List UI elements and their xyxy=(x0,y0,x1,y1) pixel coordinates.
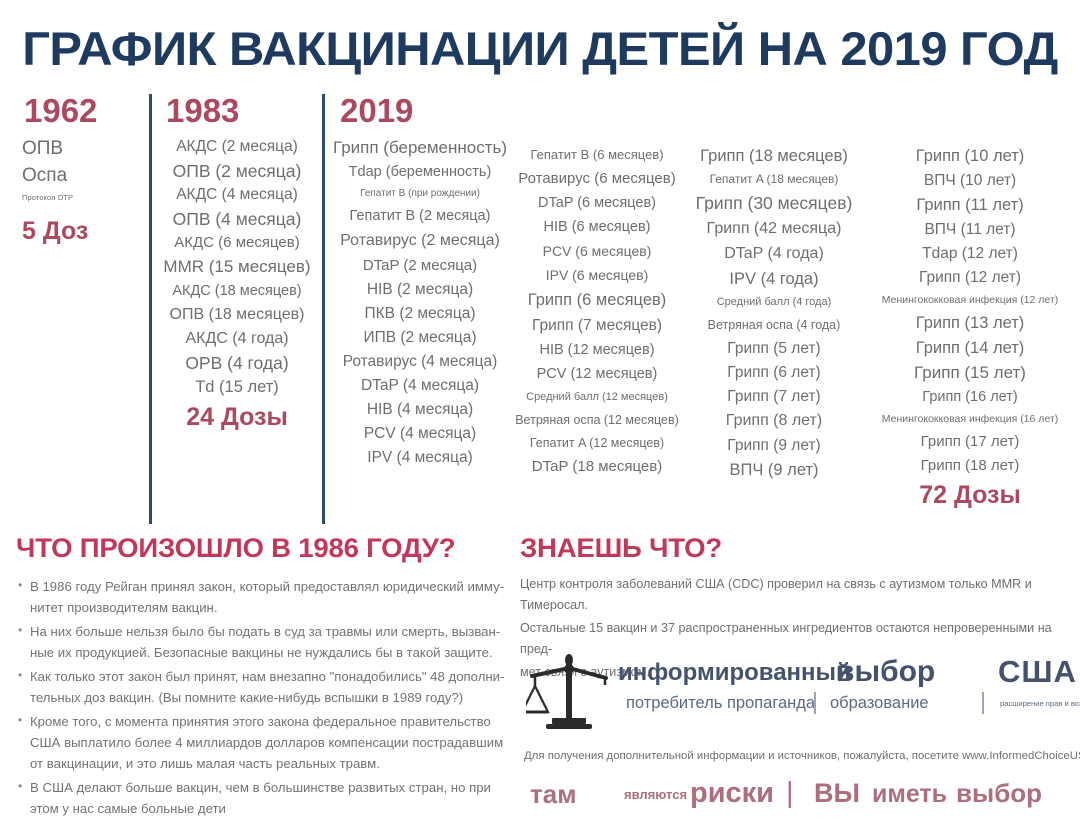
vaccine-item: Грипп (11 лет) xyxy=(864,193,1076,217)
paragraph: Центр контроля заболеваний США (CDC) про… xyxy=(520,574,1072,616)
brand-empowerment: расширение прав и возможностей xyxy=(1000,697,1080,711)
vaccine-item: DTaP (4 года) xyxy=(684,242,864,266)
brand-logo-block: информированный выбор США потребитель пр… xyxy=(520,652,1076,732)
vaccine-item: Грипп (15 лет) xyxy=(864,361,1076,385)
balance-scale-icon xyxy=(526,654,612,735)
dose-total-1962: 5 Доз xyxy=(18,216,144,246)
schedule-column-2019-c: Грипп (18 месяцев) Гепатит A (18 месяцев… xyxy=(684,92,864,483)
brand-separator-2 xyxy=(982,692,984,714)
list-item: На них больше нельзя было бы подать в су… xyxy=(16,621,516,663)
section-know-heading: ЗНАЕШЬ ЧТО? xyxy=(520,532,1080,564)
brand-row-secondary: потребитель пропаганда образование расши… xyxy=(618,692,1078,718)
vaccine-item: Грипп (10 лет) xyxy=(864,144,1076,168)
section-1986-bullet-list: В 1986 году Рейган принял закон, который… xyxy=(16,576,516,819)
vaccine-item: ВПЧ (10 лет) xyxy=(864,169,1076,192)
vaccine-item: Грипп (16 лет) xyxy=(864,386,1076,408)
protocol-note: Протокол DTP xyxy=(18,190,144,206)
section-1986-heading: ЧТО ПРОИЗОШЛО В 1986 ГОДУ? xyxy=(16,532,526,564)
vaccine-item: Ротавирус (6 месяцев) xyxy=(508,167,686,191)
vaccine-item: Грипп (12 лет) xyxy=(864,266,1076,289)
vaccine-item: IPV (4 года) xyxy=(684,267,864,291)
schedule-column-2019-d: Грипп (10 лет) ВПЧ (10 лет) Грипп (11 ле… xyxy=(864,92,1076,510)
vaccine-item: Грипп (17 лет) xyxy=(864,430,1076,453)
vaccine-item: Грипп (30 месяцев) xyxy=(684,191,864,216)
brand-choice: выбор xyxy=(836,655,935,689)
vaccine-item: Ветряная оспа (12 месяцев) xyxy=(508,409,686,431)
list-item: В 1986 году Рейган принял закон, который… xyxy=(16,576,516,618)
vaccine-item: HIB (4 месяца) xyxy=(330,398,510,421)
infographic-page: ГРАФИК ВАКЦИНАЦИИ ДЕТЕЙ НА 2019 ГОД 1962… xyxy=(0,0,1080,820)
vaccine-item: Грипп (9 лет) xyxy=(684,434,864,457)
vaccine-item: Tdap (беременность) xyxy=(330,161,510,183)
vaccine-item: АКДС (4 года) xyxy=(158,327,316,350)
vaccine-item: ПКВ (2 месяца) xyxy=(330,302,510,325)
vaccine-item: Грипп (13 лет) xyxy=(864,311,1076,335)
schedule-column-1983: 1983 АКДС (2 месяца) ОПВ (2 месяца) АКДС… xyxy=(158,92,316,432)
vaccine-item: HIB (2 месяца) xyxy=(330,278,510,301)
vaccine-item: Td (15 лет) xyxy=(158,376,316,399)
vaccine-item: ОПВ (18 месяцев) xyxy=(158,303,316,326)
vaccine-item: HIB (12 месяцев) xyxy=(508,339,686,362)
brand-row-primary: информированный выбор США xyxy=(618,658,1078,692)
dose-total-1983: 24 Дозы xyxy=(158,402,316,432)
vaccine-item: Грипп (6 лет) xyxy=(684,361,864,384)
brand-informed: информированный xyxy=(618,658,851,688)
vaccine-item: DTaP (6 месяцев) xyxy=(508,192,686,215)
tagline-are: являются xyxy=(624,786,687,804)
vaccine-item: АКДС (4 месяца) xyxy=(158,184,316,206)
brand-consumer-advocacy: потребитель пропаганда xyxy=(626,692,815,714)
vaccine-item: IPV (4 месяца) xyxy=(330,446,510,469)
section-1986: ЧТО ПРОИЗОШЛО В 1986 ГОДУ? В 1986 году Р… xyxy=(16,532,516,822)
tagline-risks: риски xyxy=(690,775,774,811)
column-divider-2 xyxy=(322,94,325,524)
vaccine-item: Грипп (беременность) xyxy=(330,136,510,160)
brand-education: образование xyxy=(830,692,929,714)
dose-total-2019: 72 Дозы xyxy=(864,480,1076,510)
vaccine-item: Гепатит B (при рождении) xyxy=(330,184,510,204)
vaccine-item: Грипп (18 месяцев) xyxy=(684,144,864,168)
list-item: Как только этот закон был принят, нам вн… xyxy=(16,666,516,708)
vaccine-item: АКДС (6 месяцев) xyxy=(158,232,316,254)
vaccine-item: ВПЧ (9 лет) xyxy=(684,458,864,482)
vaccine-item: Менингококковая инфекция (12 лет) xyxy=(864,290,1076,310)
year-label-1983: 1983 xyxy=(158,92,316,130)
schedule-column-2019-a: 2019 Грипп (беременность) Tdap (беременн… xyxy=(330,92,510,470)
brand-separator-1 xyxy=(814,692,816,714)
vaccine-item: Грипп (18 лет) xyxy=(864,454,1076,477)
vaccine-item: Грипп (42 месяца) xyxy=(684,217,864,241)
vaccine-item: Средний балл (4 года) xyxy=(684,292,864,313)
vaccine-item: Tdap (12 лет) xyxy=(864,242,1076,265)
vaccine-item: DTaP (4 месяца) xyxy=(330,374,510,397)
tagline-separator: | xyxy=(786,775,794,811)
tagline-there: там xyxy=(530,778,576,810)
vaccine-item: DTaP (2 месяца) xyxy=(330,254,510,277)
tagline-have: иметь xyxy=(872,778,947,810)
vaccine-item: OPB (4 года) xyxy=(158,351,316,375)
vaccine-item: ИПВ (2 месяца) xyxy=(330,326,510,349)
vaccine-item: Оспа xyxy=(18,163,144,189)
vaccine-item: Гепатит B (6 месяцев) xyxy=(508,144,686,166)
year-label-1962: 1962 xyxy=(18,92,144,130)
page-title: ГРАФИК ВАКЦИНАЦИИ ДЕТЕЙ НА 2019 ГОД xyxy=(0,22,1080,76)
vaccine-item: Гепатит A (18 месяцев) xyxy=(684,169,864,190)
tagline-row: там являются риски | ВЫ иметь выбор xyxy=(524,776,1080,816)
brand-wordmark: информированный выбор США потребитель пр… xyxy=(618,652,1078,724)
vaccine-item: ОПВ xyxy=(18,136,144,162)
footer-source-note[interactable]: Для получения дополнительной информации … xyxy=(524,748,1076,764)
list-item: В США делают больше вакцин, чем в больши… xyxy=(16,777,516,819)
vaccine-schedule: 1962 ОПВ Оспа Протокол DTP 5 Доз 1983 АК… xyxy=(0,92,1080,532)
vaccine-item: Средний балл (12 месяцев) xyxy=(508,387,686,408)
schedule-column-2019-b: Гепатит B (6 месяцев) Ротавирус (6 месяц… xyxy=(508,92,686,480)
vaccine-item: MMR (15 месяцев) xyxy=(158,255,316,279)
vaccine-item: Грипп (7 лет) xyxy=(684,385,864,408)
vaccine-item: АКДС (2 месяца) xyxy=(158,136,316,158)
vaccine-item: Грипп (7 месяцев) xyxy=(508,314,686,338)
vaccine-item: ОПВ (4 месяца) xyxy=(158,207,316,231)
list-item: Кроме того, с момента принятия этого зак… xyxy=(16,711,516,774)
year-label-2019: 2019 xyxy=(330,92,510,130)
column-divider-1 xyxy=(149,94,152,524)
vaccine-item: Гепатит A (12 месяцев) xyxy=(508,432,686,454)
vaccine-item: АКДС (18 месяцев) xyxy=(158,280,316,302)
vaccine-item: ОПВ (2 месяца) xyxy=(158,159,316,183)
vaccine-item: Менингококковая инфекция (16 лет) xyxy=(864,409,1076,429)
vaccine-item: Грипп (5 лет) xyxy=(684,337,864,360)
vaccine-item: PCV (4 месяца) xyxy=(330,422,510,445)
vaccine-item: Ротавирус (4 месяца) xyxy=(330,350,510,373)
vaccine-item: Ротавирус (2 месяца) xyxy=(330,229,510,253)
vaccine-item: Гепатит B (2 месяца) xyxy=(330,205,510,228)
vaccine-item: PCV (6 месяцев) xyxy=(508,240,686,263)
vaccine-item: Грипп (6 месяцев) xyxy=(508,288,686,313)
vaccine-item: Ветряная оспа (4 года) xyxy=(684,314,864,336)
vaccine-item: Грипп (14 лет) xyxy=(864,336,1076,360)
vaccine-item: Грипп (8 лет) xyxy=(684,409,864,433)
schedule-column-1962: 1962 ОПВ Оспа Протокол DTP 5 Доз xyxy=(18,92,144,246)
vaccine-item: HIB (6 месяцев) xyxy=(508,216,686,239)
vaccine-item: DTaP (18 месяцев) xyxy=(508,455,686,479)
brand-usa: США xyxy=(998,654,1077,690)
vaccine-item: PCV (12 месяцев) xyxy=(508,363,686,386)
vaccine-item: ВПЧ (11 лет) xyxy=(864,218,1076,241)
tagline-choice: выбор xyxy=(956,777,1042,810)
vaccine-item: IPV (6 месяцев) xyxy=(508,264,686,287)
tagline-you: ВЫ xyxy=(814,776,860,810)
